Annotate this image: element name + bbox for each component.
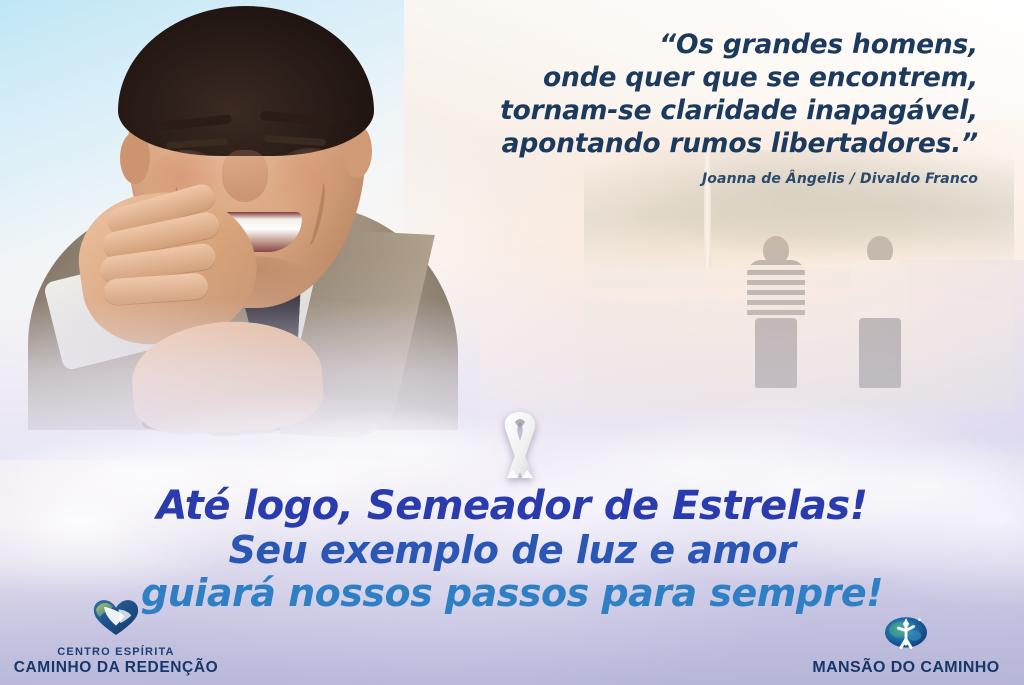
- headline-line-2: Seu exemplo de luz e amor: [0, 529, 1024, 572]
- globe-figure-flame-icon: [884, 608, 928, 655]
- headline-line-1: Até logo, Semeador de Estrelas!: [0, 484, 1024, 529]
- logo-right-line-2: MANSÃO DO CAMINHO: [812, 659, 999, 677]
- white-awareness-ribbon-icon: [489, 404, 551, 482]
- quote-line-1: “Os grandes homens,: [418, 28, 978, 61]
- logo-mansao-do-caminho: MANSÃO DO CAMINHO: [798, 608, 1014, 677]
- heart-hands-icon: [93, 599, 139, 642]
- logo-centro-espirita: CENTRO ESPÍRITA CAMINHO DA REDENÇÃO: [18, 599, 214, 677]
- portrait-nose: [222, 150, 268, 202]
- logo-left-line-1: CENTRO ESPÍRITA: [57, 646, 174, 659]
- headline-block: Até logo, Semeador de Estrelas! Seu exem…: [0, 484, 1024, 615]
- quote-attribution: Joanna de Ângelis / Divaldo Franco: [418, 171, 978, 187]
- quote-line-3: tornam-se claridade inapagável,: [418, 94, 978, 127]
- quote-line-2: onde quer que se encontrem,: [418, 61, 978, 94]
- portrait-hair: [118, 6, 374, 156]
- memorial-poster: “Os grandes homens, onde quer que se enc…: [0, 0, 1024, 685]
- quote-block: “Os grandes homens, onde quer que se enc…: [418, 28, 978, 187]
- quote-line-4: apontando rumos libertadores.”: [418, 127, 978, 160]
- logo-left-line-2: CAMINHO DA REDENÇÃO: [14, 659, 219, 677]
